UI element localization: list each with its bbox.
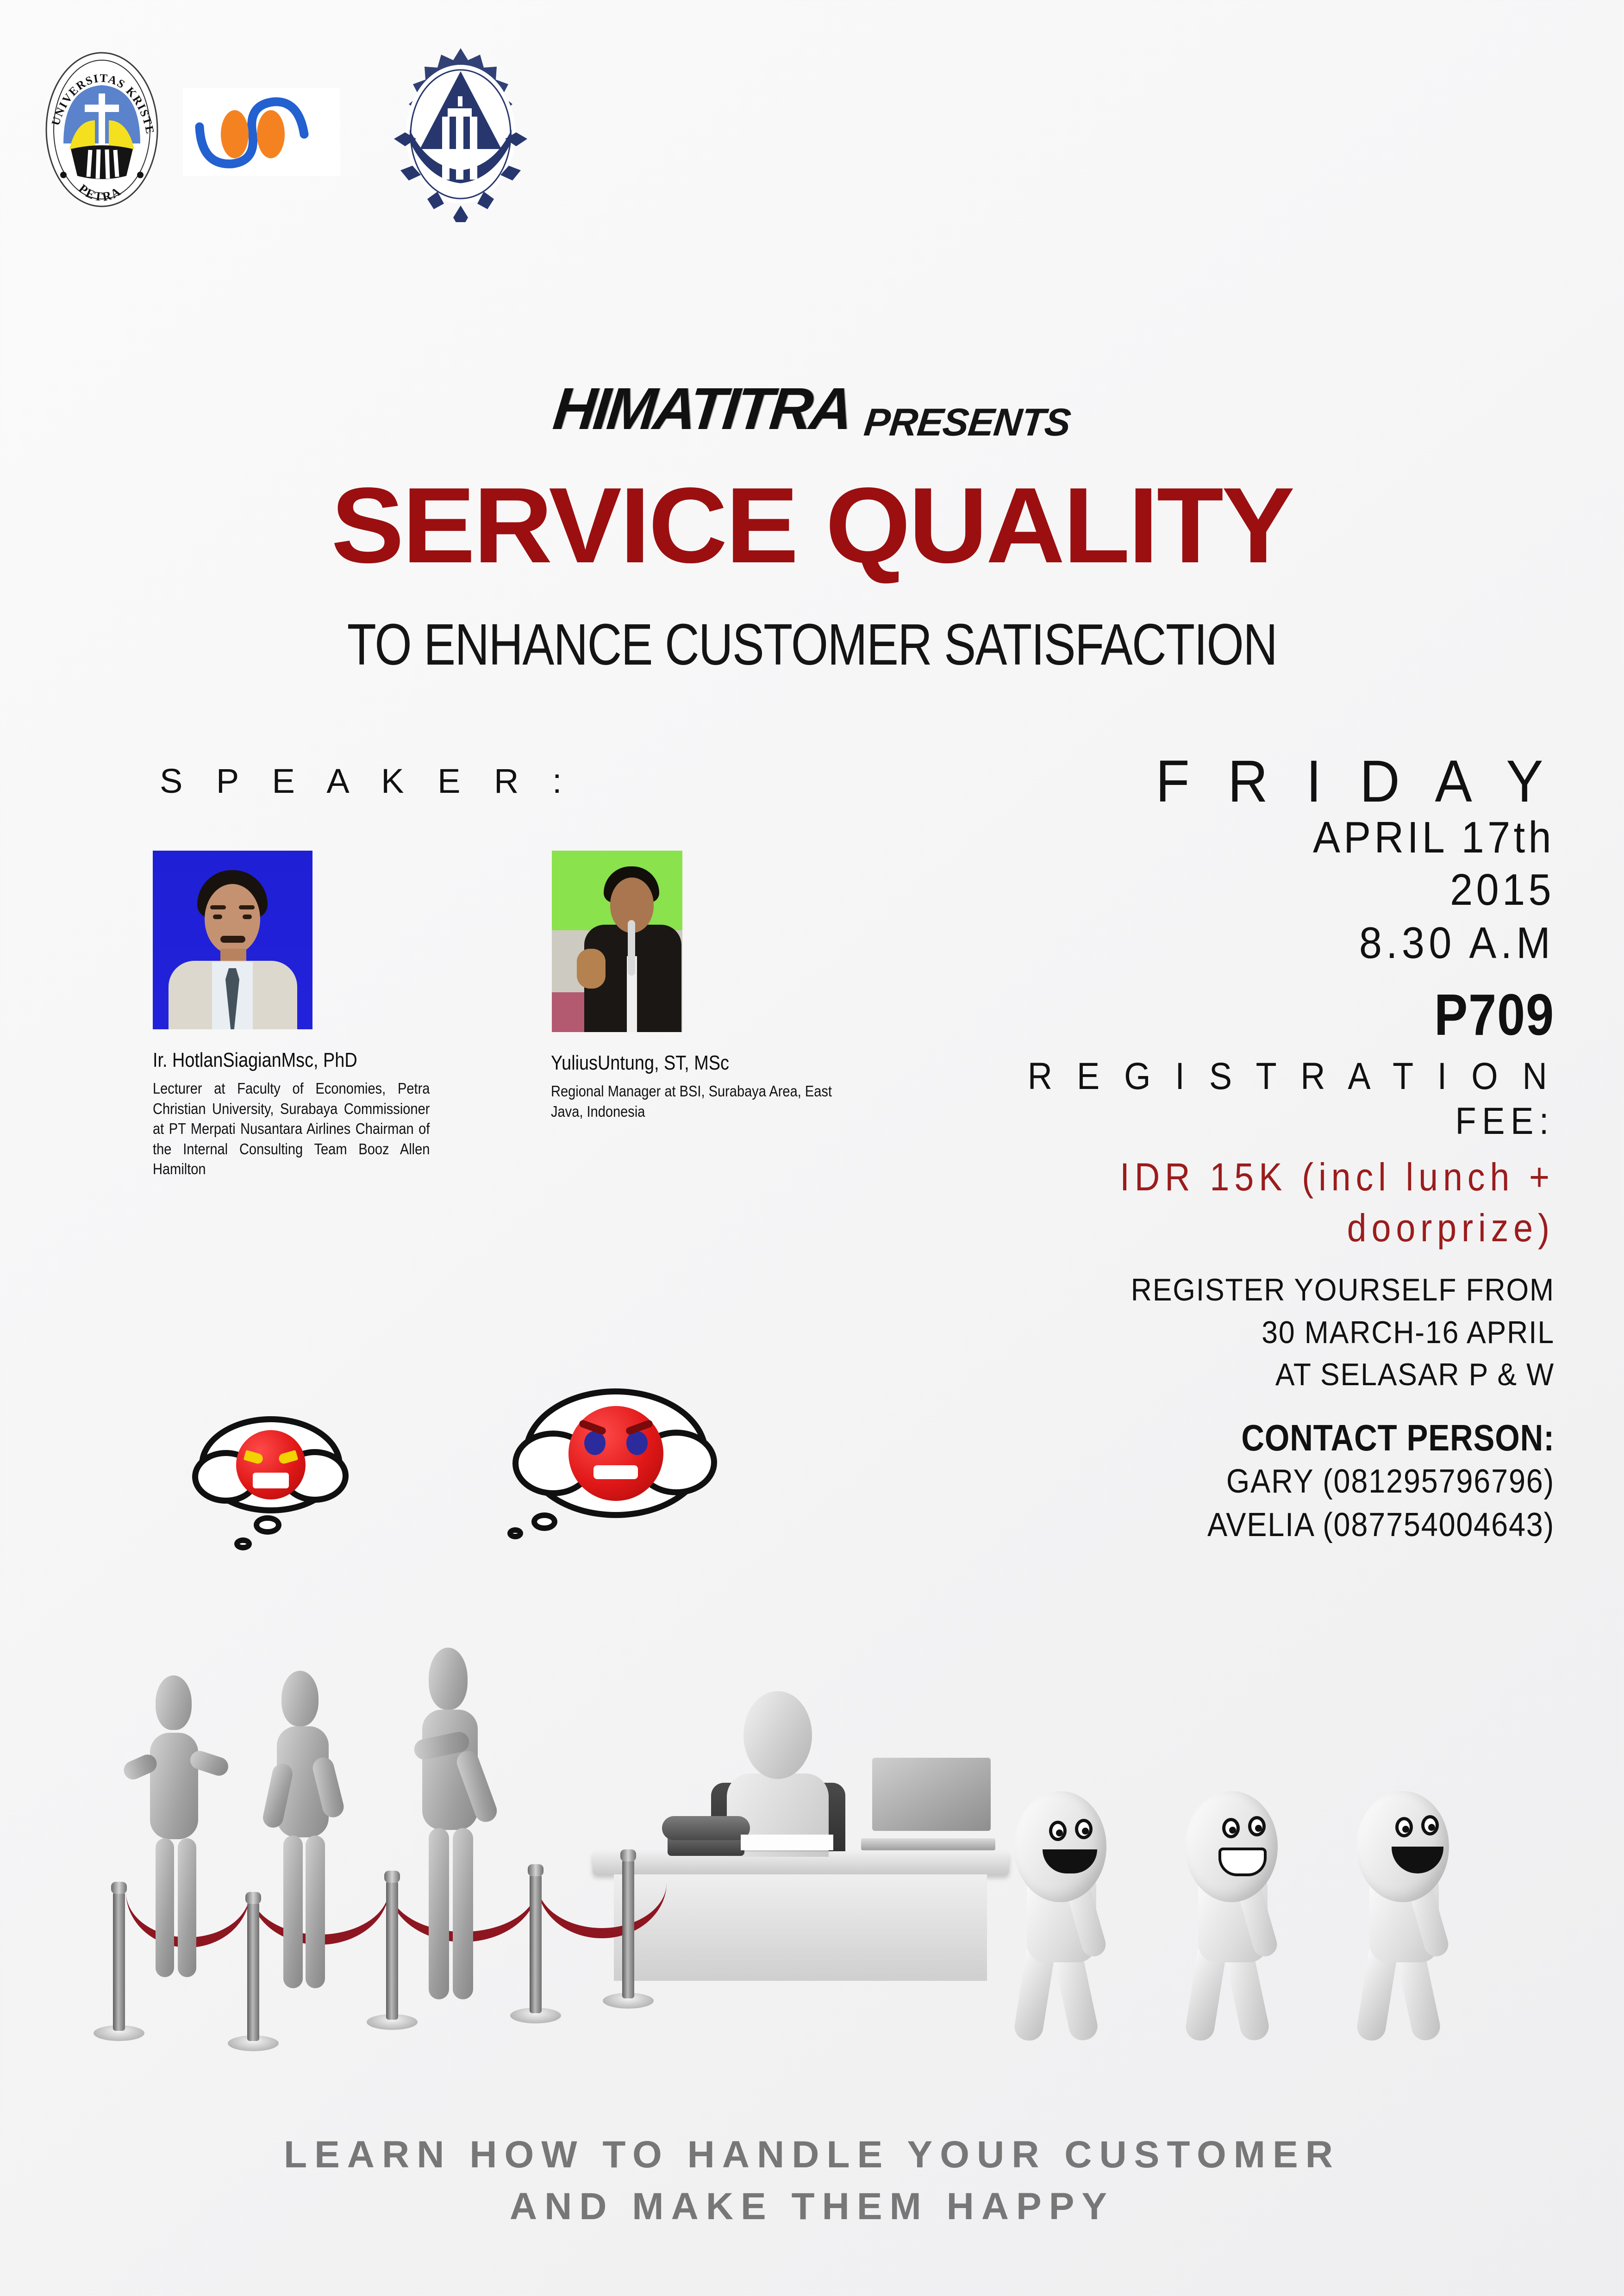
speaker-name-1: Ir. HotlanSiagianMsc, PhD [153,1049,320,1072]
register-period-line-2: 30 MARCH-16 APRIL [1001,1312,1555,1354]
waiting-mannequin [130,1675,259,2009]
happy-customer [1356,1745,1468,2041]
angry-face-thought-bubble [199,1416,343,1513]
desk-phone-icon [662,1805,750,1856]
event-time: 8.30 A.M [1001,916,1555,970]
service-counter-desk [593,1851,1009,1990]
furious-face-thought-bubble [523,1388,708,1518]
speaker-section-label: S P E A K E R : [160,761,574,801]
angry-face-icon [236,1430,306,1500]
smiling-face-icon [1014,1791,1106,1902]
page-title: SERVICE QUALITY [0,472,1624,579]
speaker-card-2: YuliusUntung, ST, MSc Regional Manager a… [532,851,792,1121]
himatitra-logo [183,88,340,176]
event-date: APRIL 17th [1001,811,1555,864]
furious-face-icon [568,1406,663,1501]
speaker-card-1: Ir. HotlanSiagianMsc, PhD Lecturer at Fa… [153,851,347,1179]
waiting-mannequin [259,1671,389,2022]
registration-label: R E G I S T R A T I O N [1013,1054,1555,1099]
fee-amount: IDR 15K (incl lunch + [1013,1152,1555,1202]
grinning-face-icon [1185,1791,1278,1902]
desk-paper [741,1835,833,1850]
tagline-line-1: LEARN HOW TO HANDLE YOUR CUSTOMER [0,2129,1624,2181]
universitas-kristen-petra-logo: UNIVERSITAS KRISTEN PETRA [44,51,160,208]
speaker-bio-2: Regional Manager at BSI, Surabaya Area, … [551,1081,836,1121]
fee-amount-cont: doorprize) [1013,1203,1555,1253]
happy-customer [1185,1745,1296,2041]
speaker-name-2: YuliusUntung, ST, MSc [551,1052,758,1075]
speaker-photo-2 [552,851,682,1032]
tagline: LEARN HOW TO HANDLE YOUR CUSTOMER AND MA… [0,2129,1624,2232]
event-room: P709 [1037,980,1555,1050]
register-location: AT SELASAR P & W [1001,1354,1555,1396]
poster-canvas: UNIVERSITAS KRISTEN PETRA [0,0,1624,2296]
laughing-face-icon [1356,1791,1449,1902]
fee-label: FEE: [1013,1099,1555,1144]
happy-customer [1014,1745,1125,2041]
laptop-icon [861,1758,995,1850]
speaker-photo-1 [153,851,312,1029]
page-subtitle: TO ENHANCE CUSTOMER SATISFACTION [146,616,1478,674]
tagline-line-2: AND MAKE THEM HAPPY [0,2181,1624,2233]
event-year: 2015 [1001,864,1555,916]
register-period-line-1: REGISTER YOURSELF FROM [1001,1269,1555,1312]
speaker-bio-1: Lecturer at Faculty of Economies, Petra … [153,1078,430,1179]
presents-row: HIMATITRA PRESENTS [0,375,1624,443]
logo-row: UNIVERSITAS KRISTEN PETRA [44,46,785,268]
waiting-mannequin [403,1648,542,2032]
its-gear-logo [377,46,544,222]
illustration-scene [0,1412,1624,2060]
presents-label: PRESENTS [862,400,1073,445]
organizer-name: HIMATITRA [550,375,854,443]
event-day: F R I D A Y [989,752,1555,811]
